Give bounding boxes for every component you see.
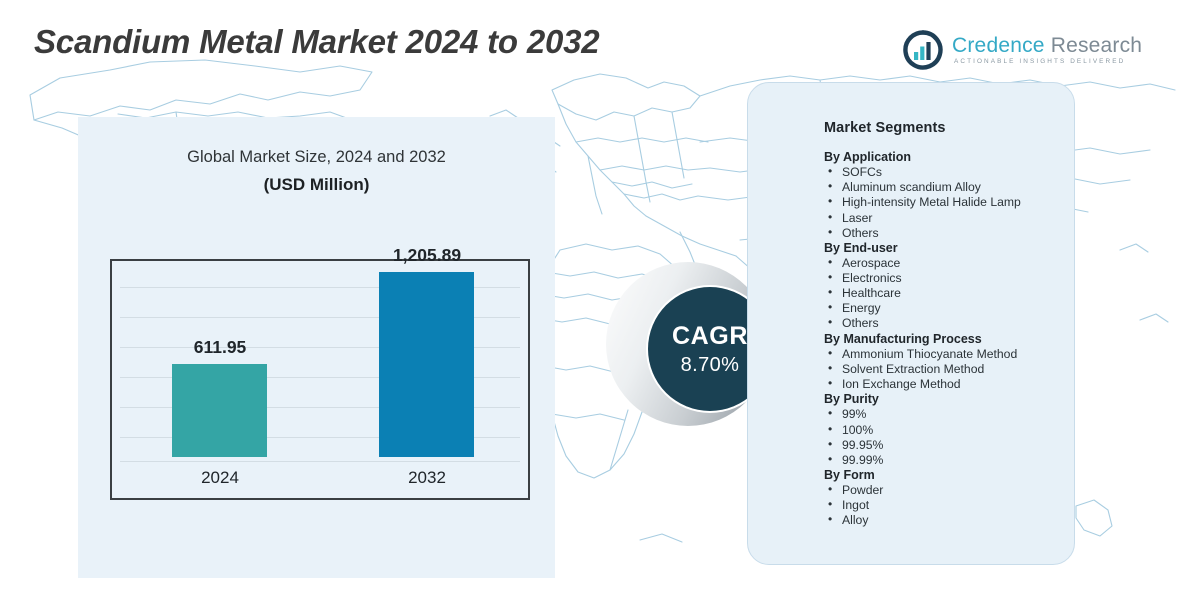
- segment-item: Laser: [824, 211, 1074, 226]
- brand-name: Credence Research: [952, 35, 1142, 57]
- segment-item: 99%: [824, 407, 1074, 422]
- segment-item: Ammonium Thiocyanate Method: [824, 347, 1074, 362]
- segment-list: 99% 100% 99.95% 99.99%: [824, 407, 1074, 467]
- bar-chart: 611.95 1,205.89 2024 2032: [110, 259, 530, 500]
- segment-group-title: By Form: [824, 468, 1074, 483]
- segment-list: Aerospace Electronics Healthcare Energy …: [824, 256, 1074, 331]
- segment-item: Electronics: [824, 271, 1074, 286]
- segment-group-form: By Form Powder Ingot Alloy: [824, 468, 1074, 529]
- bar-2032: [379, 272, 474, 457]
- segment-list: SOFCs Aluminum scandium Alloy High-inten…: [824, 165, 1074, 240]
- segment-group-end-user: By End-user Aerospace Electronics Health…: [824, 241, 1074, 332]
- circle-bar-chart-icon: [903, 30, 943, 70]
- bar-value-2024: 611.95: [160, 337, 280, 358]
- cagr-label: CAGR: [672, 321, 748, 351]
- infographic-root: Scandium Metal Market 2024 to 2032 Crede…: [0, 0, 1182, 595]
- segment-item: Others: [824, 316, 1074, 331]
- brand-name-primary: Credence: [952, 34, 1045, 57]
- segment-item: SOFCs: [824, 165, 1074, 180]
- bar-2024: [172, 364, 267, 457]
- segment-item: Others: [824, 226, 1074, 241]
- segment-item: Healthcare: [824, 286, 1074, 301]
- segment-group-title: By Manufacturing Process: [824, 332, 1074, 347]
- segment-group-title: By Application: [824, 150, 1074, 165]
- segment-item: Solvent Extraction Method: [824, 362, 1074, 377]
- chart-heading-units: (USD Million): [78, 172, 555, 197]
- segment-group-manufacturing-process: By Manufacturing Process Ammonium Thiocy…: [824, 332, 1074, 393]
- segment-item: 99.95%: [824, 438, 1074, 453]
- segment-item: 99.99%: [824, 453, 1074, 468]
- segment-item: Powder: [824, 483, 1074, 498]
- segment-item: Ingot: [824, 498, 1074, 513]
- segment-item: 100%: [824, 423, 1074, 438]
- segment-item: Alloy: [824, 513, 1074, 528]
- segment-item: Aluminum scandium Alloy: [824, 180, 1074, 195]
- brand-tagline: Actionable Insights Delivered: [952, 58, 1142, 65]
- segment-group-application: By Application SOFCs Aluminum scandium A…: [824, 150, 1074, 241]
- market-segments-content: Market Segments By Application SOFCs Alu…: [824, 120, 1074, 528]
- segment-item: Aerospace: [824, 256, 1074, 271]
- segment-item: High-intensity Metal Halide Lamp: [824, 195, 1074, 210]
- cagr-value: 8.70%: [681, 352, 740, 378]
- category-label-2024: 2024: [160, 468, 280, 488]
- chart-heading-main: Global Market Size, 2024 and 2032: [187, 148, 446, 166]
- chart-heading: Global Market Size, 2024 and 2032 (USD M…: [78, 145, 555, 197]
- segment-item: Energy: [824, 301, 1074, 316]
- bar-value-2032: 1,205.89: [362, 245, 492, 266]
- gridline: [120, 461, 520, 462]
- segment-item: Ion Exchange Method: [824, 377, 1074, 392]
- chart-plot-area: 611.95 1,205.89 2024 2032: [112, 261, 528, 498]
- segment-group-title: By Purity: [824, 392, 1074, 407]
- brand-name-secondary: Research: [1051, 34, 1142, 57]
- segment-list: Powder Ingot Alloy: [824, 483, 1074, 528]
- segment-group-title: By End-user: [824, 241, 1074, 256]
- brand-logo: Credence Research Actionable Insights De…: [903, 30, 1142, 70]
- segment-list: Ammonium Thiocyanate Method Solvent Extr…: [824, 347, 1074, 392]
- segment-group-purity: By Purity 99% 100% 99.95% 99.99%: [824, 392, 1074, 468]
- category-label-2032: 2032: [367, 468, 487, 488]
- page-title: Scandium Metal Market 2024 to 2032: [34, 23, 599, 61]
- market-segments-title: Market Segments: [824, 120, 1074, 136]
